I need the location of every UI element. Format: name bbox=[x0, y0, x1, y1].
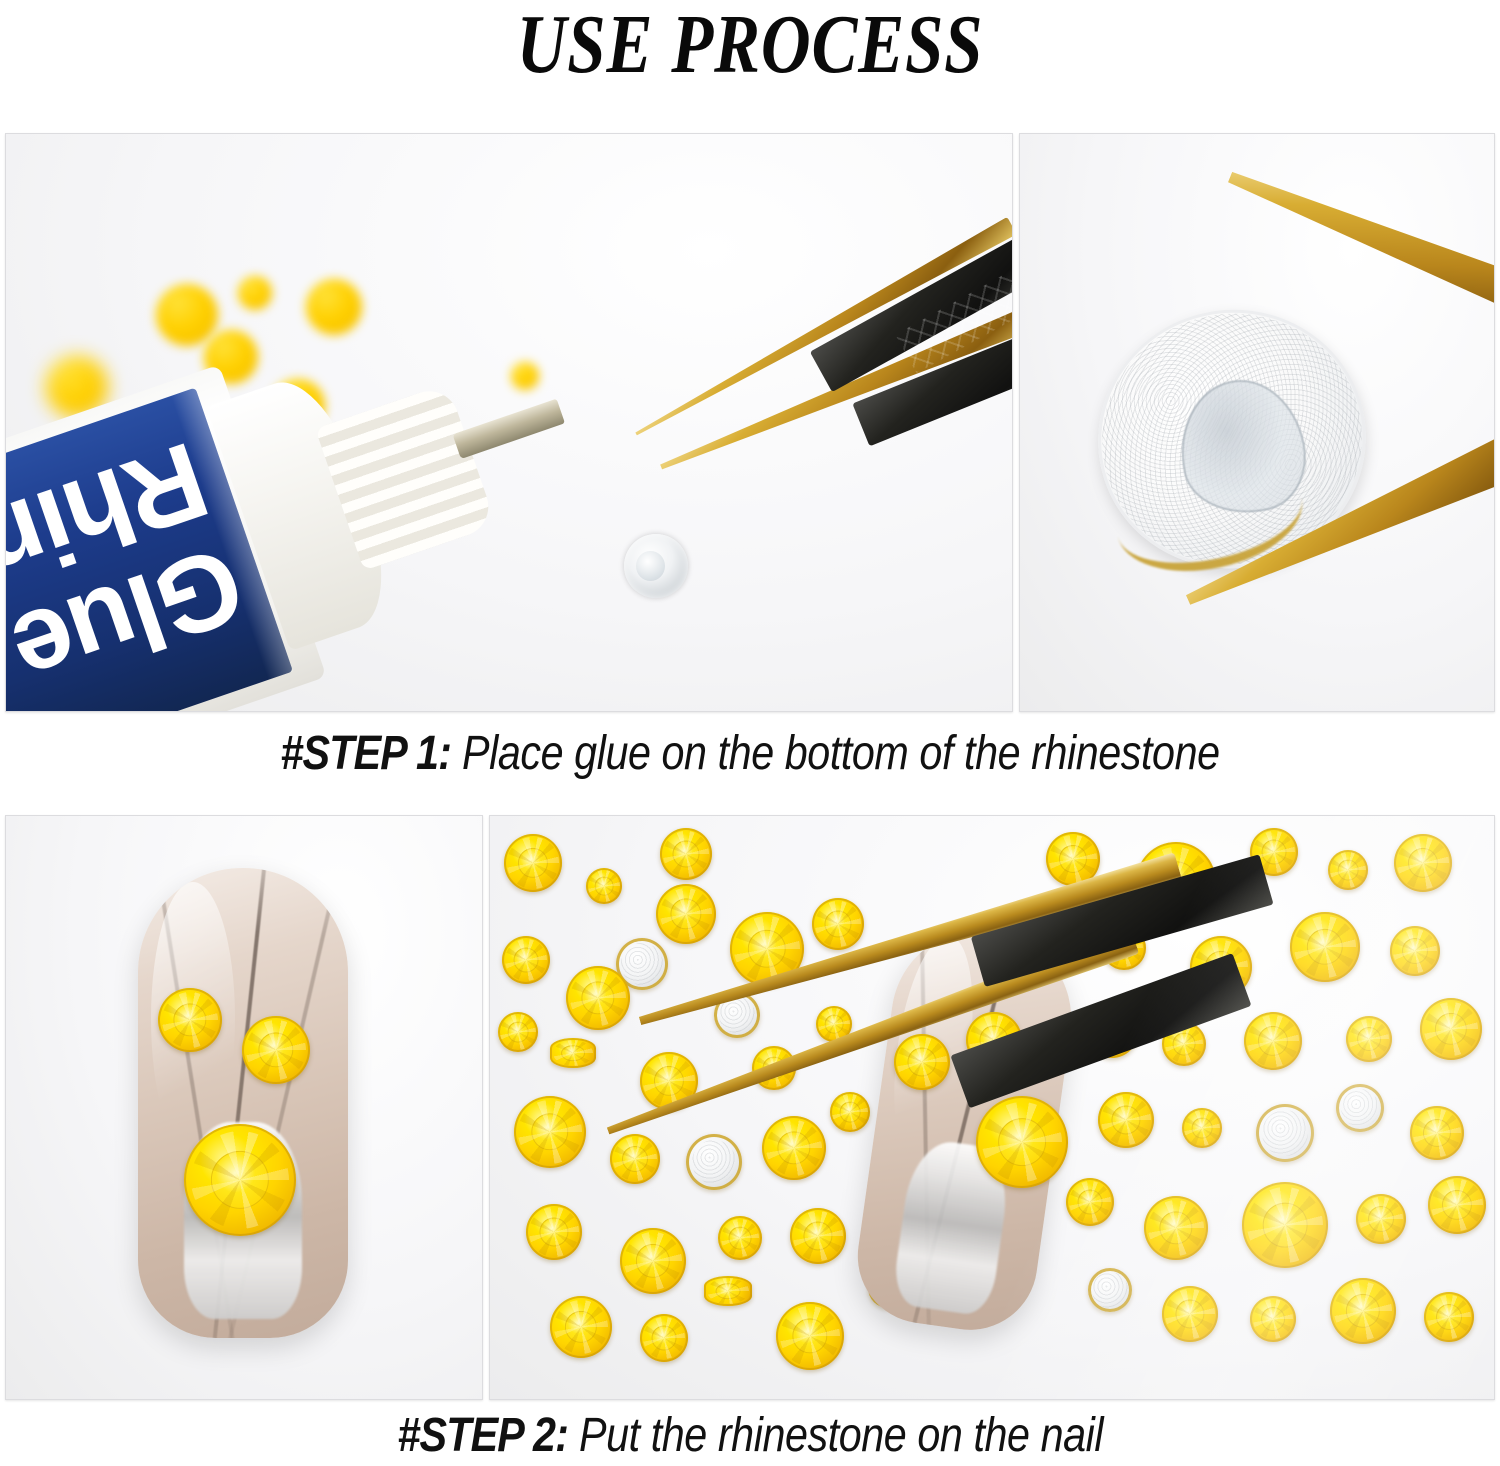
finished-nail-photo bbox=[5, 815, 483, 1400]
rhinestone-on-nail bbox=[184, 1124, 296, 1236]
bokeh-dot bbox=[156, 284, 218, 346]
step-2-caption: #STEP 2: Put the rhinestone on the nail bbox=[0, 1408, 1500, 1463]
gold-tweezers bbox=[490, 816, 1494, 1399]
rhinestone-on-nail bbox=[158, 988, 222, 1052]
step-1-caption: #STEP 1: Place glue on the bottom of the… bbox=[0, 726, 1500, 781]
step-2-panel-row bbox=[5, 815, 1495, 1400]
tweezer-arm-upper bbox=[1221, 156, 1495, 356]
use-process-infographic: USE PROCESS bbox=[0, 0, 1500, 1466]
step-1-label: #STEP 1: bbox=[280, 727, 451, 780]
rhinestone-backside-closeup-photo bbox=[1019, 133, 1495, 712]
step-1-panel-row: Glue Rhin bbox=[5, 133, 1495, 712]
rhinestone-on-nail bbox=[242, 1016, 310, 1084]
step-1-text: Place glue on the bottom of the rhinesto… bbox=[451, 727, 1220, 780]
gold-tweezers bbox=[1020, 134, 1494, 711]
tweezer-arm-lower bbox=[1177, 405, 1495, 623]
step-2-text: Put the rhinestone on the nail bbox=[568, 1409, 1103, 1462]
gold-tweezers bbox=[606, 254, 1013, 584]
bokeh-dot bbox=[238, 276, 272, 310]
nail-tip bbox=[138, 868, 348, 1338]
rhinestone-placement-photo bbox=[489, 815, 1495, 1400]
step-2-label: #STEP 2: bbox=[397, 1409, 568, 1462]
page-title: USE PROCESS bbox=[135, 0, 1365, 93]
bottle-nozzle bbox=[453, 399, 565, 459]
glue-application-photo: Glue Rhin bbox=[5, 133, 1013, 712]
